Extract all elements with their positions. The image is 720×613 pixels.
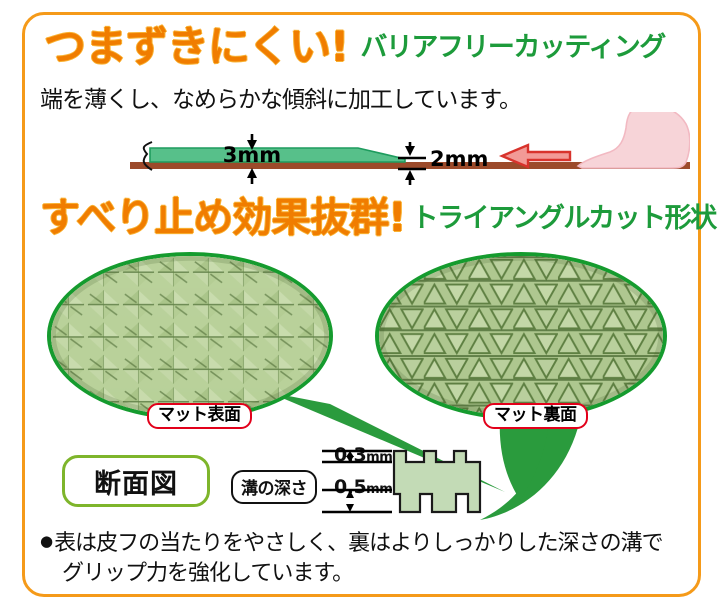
- mat-back-surface-image: [375, 252, 667, 420]
- groove-depth-label: 溝の深さ: [231, 470, 317, 504]
- thickness-2mm-label: 2mm: [430, 147, 488, 171]
- section2-heading: すべり止め効果抜群! トライアングルカット形状: [40, 196, 716, 240]
- mat-front-label: マット表面: [147, 403, 252, 429]
- thickness-3mm-label: 3mm: [223, 143, 281, 167]
- note-bullet: ●: [40, 532, 52, 550]
- section1-description: 端を薄くし、なめらかな傾斜に加工しています。: [40, 80, 521, 114]
- section2-heading-sub: トライアングルカット形状: [411, 202, 715, 240]
- section1-heading-main: つまずきにくい!: [44, 24, 348, 70]
- top-dimension-lines: [322, 451, 392, 462]
- section1-heading-sub: バリアフリーカッティング: [360, 31, 664, 70]
- barrier-free-cut-diagram: 3mm 2mm: [130, 112, 690, 192]
- profile-shape: [394, 451, 480, 512]
- section2-heading-main: すべり止め効果抜群!: [40, 196, 405, 240]
- foot-illustration: [578, 112, 690, 168]
- infographic-root: つまずきにくい! バリアフリーカッティング 端を薄くし、なめらかな傾斜に加工して…: [0, 0, 720, 613]
- section1-heading: つまずきにくい! バリアフリーカッティング: [44, 24, 665, 70]
- front-texture: [51, 256, 329, 416]
- back-texture: [379, 256, 663, 416]
- groove-profile-diagram: [320, 438, 520, 520]
- bottom-dimension-lines: [322, 490, 392, 512]
- bottom-note: ●表は皮フの当たりをやさしく、裏はよりしっかりした深さの溝で グリップ力を強化し…: [40, 526, 690, 589]
- note-line-1: 表は皮フの当たりをやさしく、裏はよりしっかりした深さの溝で: [54, 531, 663, 556]
- mat-back-label: マット裏面: [483, 403, 588, 429]
- mat-front-surface-image: [47, 252, 333, 420]
- note-line-2: グリップ力を強化しています。: [62, 559, 690, 589]
- cross-section-title: 断面図: [62, 455, 210, 507]
